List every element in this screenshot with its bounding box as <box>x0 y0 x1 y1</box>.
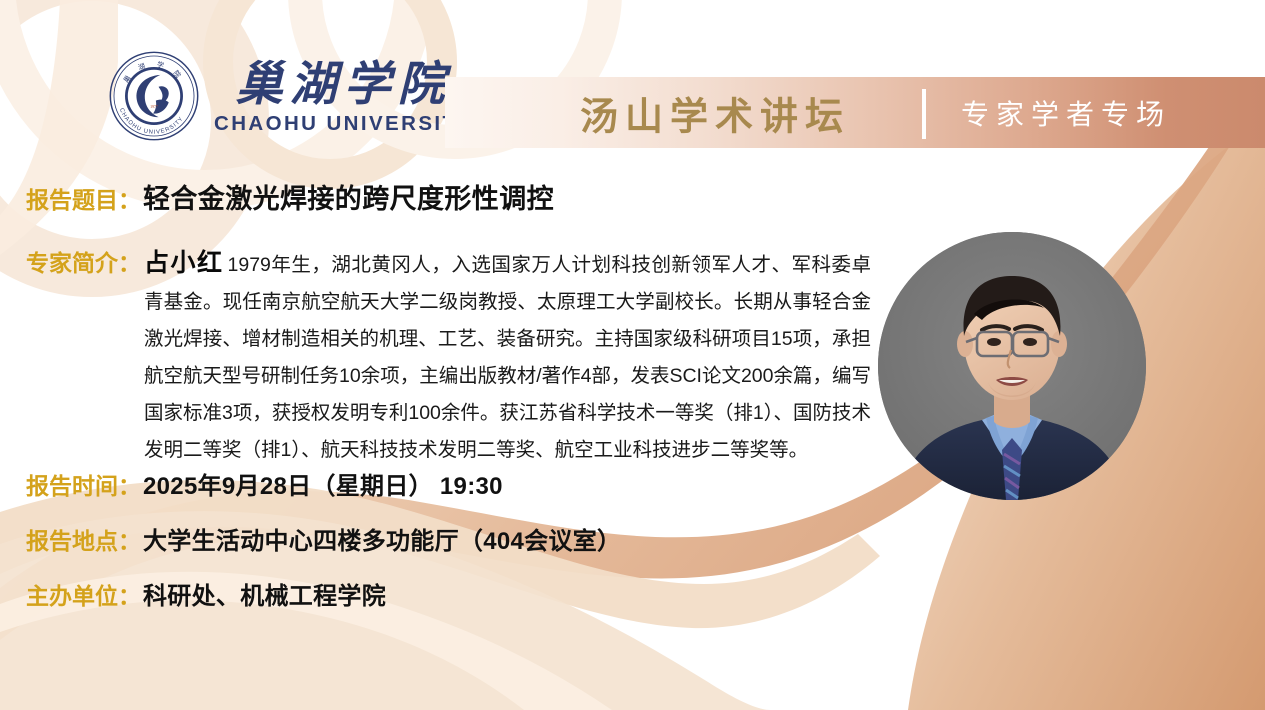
seminar-poster: 1977 巢 湖 学 院 CHAOHU UNIVERSITY 巢湖学院 CHAO… <box>0 0 1265 710</box>
lecture-place-row: 报告地点： 大学生活动中心四楼多功能厅（404会议室） <box>26 521 621 556</box>
logo-name-en: CHAOHU UNIVERSITY <box>214 112 473 136</box>
lecture-time-label: 报告时间： <box>26 467 141 501</box>
speaker-bio-text: 占小红1979年生，湖北黄冈人，入选国家万人计划科技创新领军人才、军科委卓青基金… <box>144 245 871 469</box>
logo-wordmark: 巢湖学院 CHAOHU UNIVERSITY <box>214 60 473 136</box>
university-logo: 1977 巢 湖 学 院 CHAOHU UNIVERSITY 巢湖学院 CHAO… <box>108 50 473 142</box>
lecture-time-value: 2025年9月28日（星期日） 19:30 <box>143 466 503 501</box>
speaker-bio-label: 专家简介： <box>26 245 141 282</box>
speaker-portrait-photo-icon <box>878 232 1146 500</box>
lecture-title-value: 轻合金激光焊接的跨尺度形性调控 <box>143 177 554 216</box>
speaker-bio-row: 专家简介： 占小红1979年生，湖北黄冈人，入选国家万人计划科技创新领军人才、军… <box>26 245 871 469</box>
lecture-place-label: 报告地点： <box>26 522 141 556</box>
lecture-organizer-label: 主办单位： <box>26 577 141 611</box>
lecture-time-row: 报告时间： 2025年9月28日（星期日） 19:30 <box>26 466 503 501</box>
banner-subtitle: 专家学者专场 <box>961 93 1171 133</box>
lecture-place-value: 大学生活动中心四楼多功能厅（404会议室） <box>143 521 621 556</box>
series-banner: 汤山学术讲坛 专家学者专场 <box>445 77 1265 148</box>
lecture-title-label: 报告题目： <box>26 181 141 215</box>
lecture-organizer-value: 科研处、机械工程学院 <box>143 576 386 611</box>
banner-main-title: 汤山学术讲坛 <box>580 85 850 140</box>
logo-name-cn: 巢湖学院 <box>236 60 452 111</box>
banner-divider-icon <box>922 89 926 139</box>
chaohu-university-seal-icon: 1977 巢 湖 学 院 CHAOHU UNIVERSITY <box>108 50 200 142</box>
svg-text:1977: 1977 <box>150 105 158 109</box>
lecture-organizer-row: 主办单位： 科研处、机械工程学院 <box>26 576 386 611</box>
lecture-title-row: 报告题目： 轻合金激光焊接的跨尺度形性调控 <box>26 177 554 216</box>
speaker-bio-body: 1979年生，湖北黄冈人，入选国家万人计划科技创新领军人才、军科委卓青基金。现任… <box>144 254 871 461</box>
speaker-name: 占小红 <box>144 249 224 277</box>
speaker-portrait <box>878 232 1146 500</box>
poster-header: 1977 巢 湖 学 院 CHAOHU UNIVERSITY 巢湖学院 CHAO… <box>0 0 1265 160</box>
